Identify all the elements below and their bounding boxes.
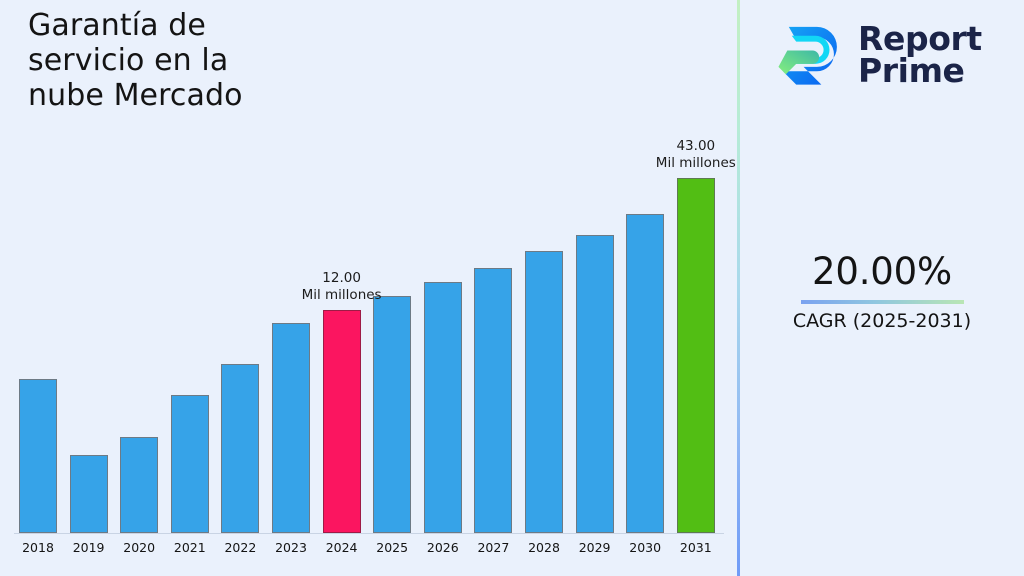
bar-2021[interactable] — [171, 395, 209, 533]
x-axis-label-2020: 2020 — [112, 540, 166, 555]
x-axis-label-2028: 2028 — [517, 540, 571, 555]
bar-2018[interactable] — [19, 379, 57, 533]
cagr-divider-rule — [801, 300, 964, 304]
x-axis-label-2029: 2029 — [568, 540, 622, 555]
report-prime-logo-icon — [774, 18, 848, 92]
x-axis-label-2022: 2022 — [213, 540, 267, 555]
x-axis-label-2018: 2018 — [11, 540, 65, 555]
bar-2028[interactable] — [525, 251, 563, 533]
x-axis-label-2025: 2025 — [365, 540, 419, 555]
brand-name: Report Prime — [858, 23, 982, 87]
x-axis-label-2030: 2030 — [618, 540, 672, 555]
bar-2024[interactable] — [323, 310, 361, 533]
bar-2026[interactable] — [424, 282, 462, 533]
x-axis-label-2024: 2024 — [315, 540, 369, 555]
bar-2031[interactable] — [677, 178, 715, 533]
bar-2019[interactable] — [70, 455, 108, 533]
bar-2030[interactable] — [626, 214, 664, 533]
cagr-caption: CAGR (2025-2031) — [740, 310, 1024, 333]
bar-2020[interactable] — [120, 437, 158, 533]
x-axis-label-2026: 2026 — [416, 540, 470, 555]
brand-panel: Report Prime 20.00% CAGR (2025-2031) — [740, 0, 1024, 576]
chart-panel: Garantía de servicio en la nube Mercado … — [0, 0, 738, 576]
bar-chart-plot: 2018201920202021202220232024202520262027… — [0, 0, 738, 576]
cagr-block: 20.00% CAGR (2025-2031) — [740, 252, 1024, 332]
bar-2025[interactable] — [373, 296, 411, 533]
x-axis-label-2021: 2021 — [163, 540, 217, 555]
bar-2029[interactable] — [576, 235, 614, 533]
x-axis-label-2023: 2023 — [264, 540, 318, 555]
brand-logo: Report Prime — [774, 14, 1006, 96]
chart-baseline — [14, 533, 724, 534]
x-axis-label-2027: 2027 — [466, 540, 520, 555]
bar-2023[interactable] — [272, 323, 310, 533]
cagr-value: 20.00% — [740, 252, 1024, 293]
bar-2022[interactable] — [221, 364, 259, 533]
x-axis-label-2019: 2019 — [62, 540, 116, 555]
bar-2027[interactable] — [474, 268, 512, 533]
infographic-page: Garantía de servicio en la nube Mercado … — [0, 0, 1024, 576]
x-axis-label-2031: 2031 — [669, 540, 723, 555]
